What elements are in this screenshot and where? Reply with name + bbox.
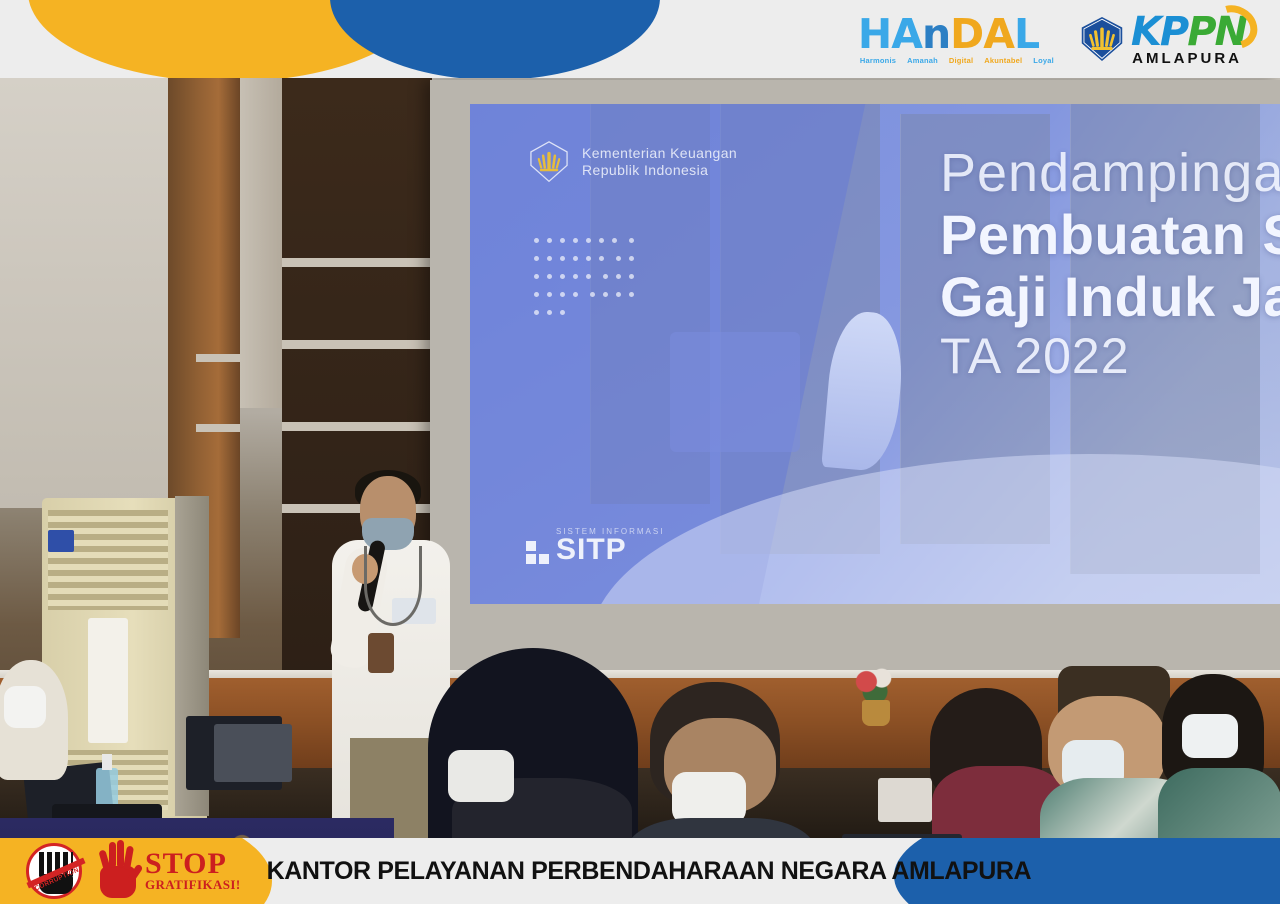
audience-face-mask [672,772,746,824]
audience-face-mask [4,686,46,728]
photo-wall-slat [196,424,240,432]
sitp-wordmark: SITP [556,536,664,565]
photo-wall-slat [282,340,432,349]
slide-title-line4: TA 2022 [940,327,1280,385]
header-bar: HAnDAL Harmonis Amanah Digital Akuntabel… [0,0,1280,78]
slide-dot-grid [530,234,640,324]
speaker-id-badge [368,633,394,673]
handal-value-akuntabel: Akuntabel [984,56,1022,65]
speaker-lanyard [364,546,422,626]
kppn-city-label: AMLAPURA [1131,50,1246,67]
sitp-label-block: SISTEM INFORMASI SITP [556,527,664,565]
slide-title-line2: Pembuatan SPM [940,204,1280,266]
sitp-tagline: SISTEM INFORMASI [556,527,664,536]
handal-value-harmonis: Harmonis [860,56,896,65]
no-corruption-icon: CORRUPTION [26,843,82,899]
batik-table-cloth [0,818,394,838]
photo-wall-slat [282,422,432,431]
event-photo: Kementerian Keuangan Republik Indonesia … [0,78,1280,838]
kppn-wordmark-block: KPPN AMLAPURA [1131,12,1246,67]
tissue-box [878,778,932,822]
laptop-display [214,724,292,782]
handal-value-digital: Digital [949,56,973,65]
office-name-title: KANTOR PELAYANAN PERBENDAHARAAN NEGARA A… [267,857,1032,886]
audience-member-shoulders [1158,768,1280,838]
slide-institution-logo: Kementerian Keuangan Republik Indonesia [528,140,737,184]
slide-decor-square [670,332,800,452]
kppn-logo: KPPN AMLAPURA [1080,12,1246,67]
poster-frame: HAnDAL Harmonis Amanah Digital Akuntabel… [0,0,1280,904]
presentation-slide: Kementerian Keuangan Republik Indonesia … [470,104,1280,604]
ac-grill-top [48,510,168,610]
audience-face-mask [1182,714,1238,758]
audience-face-mask [448,750,514,802]
photo-wall-panel-left [0,78,170,508]
handal-value-loyal: Loyal [1033,56,1054,65]
ac-control-panel [88,618,128,743]
stop-gratifikasi-logo: STOP GRATIFIKASI! [96,844,241,898]
slide-title-line1: Pendampingan [940,142,1280,204]
photo-wall-pillar-light [240,78,282,408]
handal-value-amanah: Amanah [907,56,938,65]
slide-institution-line1: Kementerian Keuangan [582,145,737,163]
projection-screen: Kementerian Keuangan Republik Indonesia … [430,80,1280,688]
kemenkeu-emblem-icon [528,140,570,184]
slide-institution-text: Kementerian Keuangan Republik Indonesia [582,145,737,180]
kemenkeu-emblem-icon [1080,16,1124,62]
gratifikasi-label: GRATIFIKASI! [145,877,241,893]
slide-title-line3: Gaji Induk Januari [940,266,1280,328]
handal-wordmark: HAnDAL [858,14,1054,55]
photo-wall-slat [196,354,240,362]
red-hand-icon [96,844,140,898]
footer-bar: CORRUPTION STOP GRATIFIKASI! KANTOR PELA… [0,838,1280,904]
slide-sitp-logo: SISTEM INFORMASI SITP [526,527,664,565]
sitp-squares-icon [526,541,549,564]
ac-sticker [48,530,74,552]
photo-wall-slat [282,258,432,267]
slide-institution-line2: Republik Indonesia [582,162,737,180]
flower-vase [862,700,890,726]
handal-logo: HAnDAL Harmonis Amanah Digital Akuntabel… [858,14,1054,65]
stop-label: STOP [145,850,241,877]
slide-title-block: Pendampingan Pembuatan SPM Gaji Induk Ja… [940,142,1280,385]
stop-gratifikasi-text: STOP GRATIFIKASI! [145,850,241,893]
